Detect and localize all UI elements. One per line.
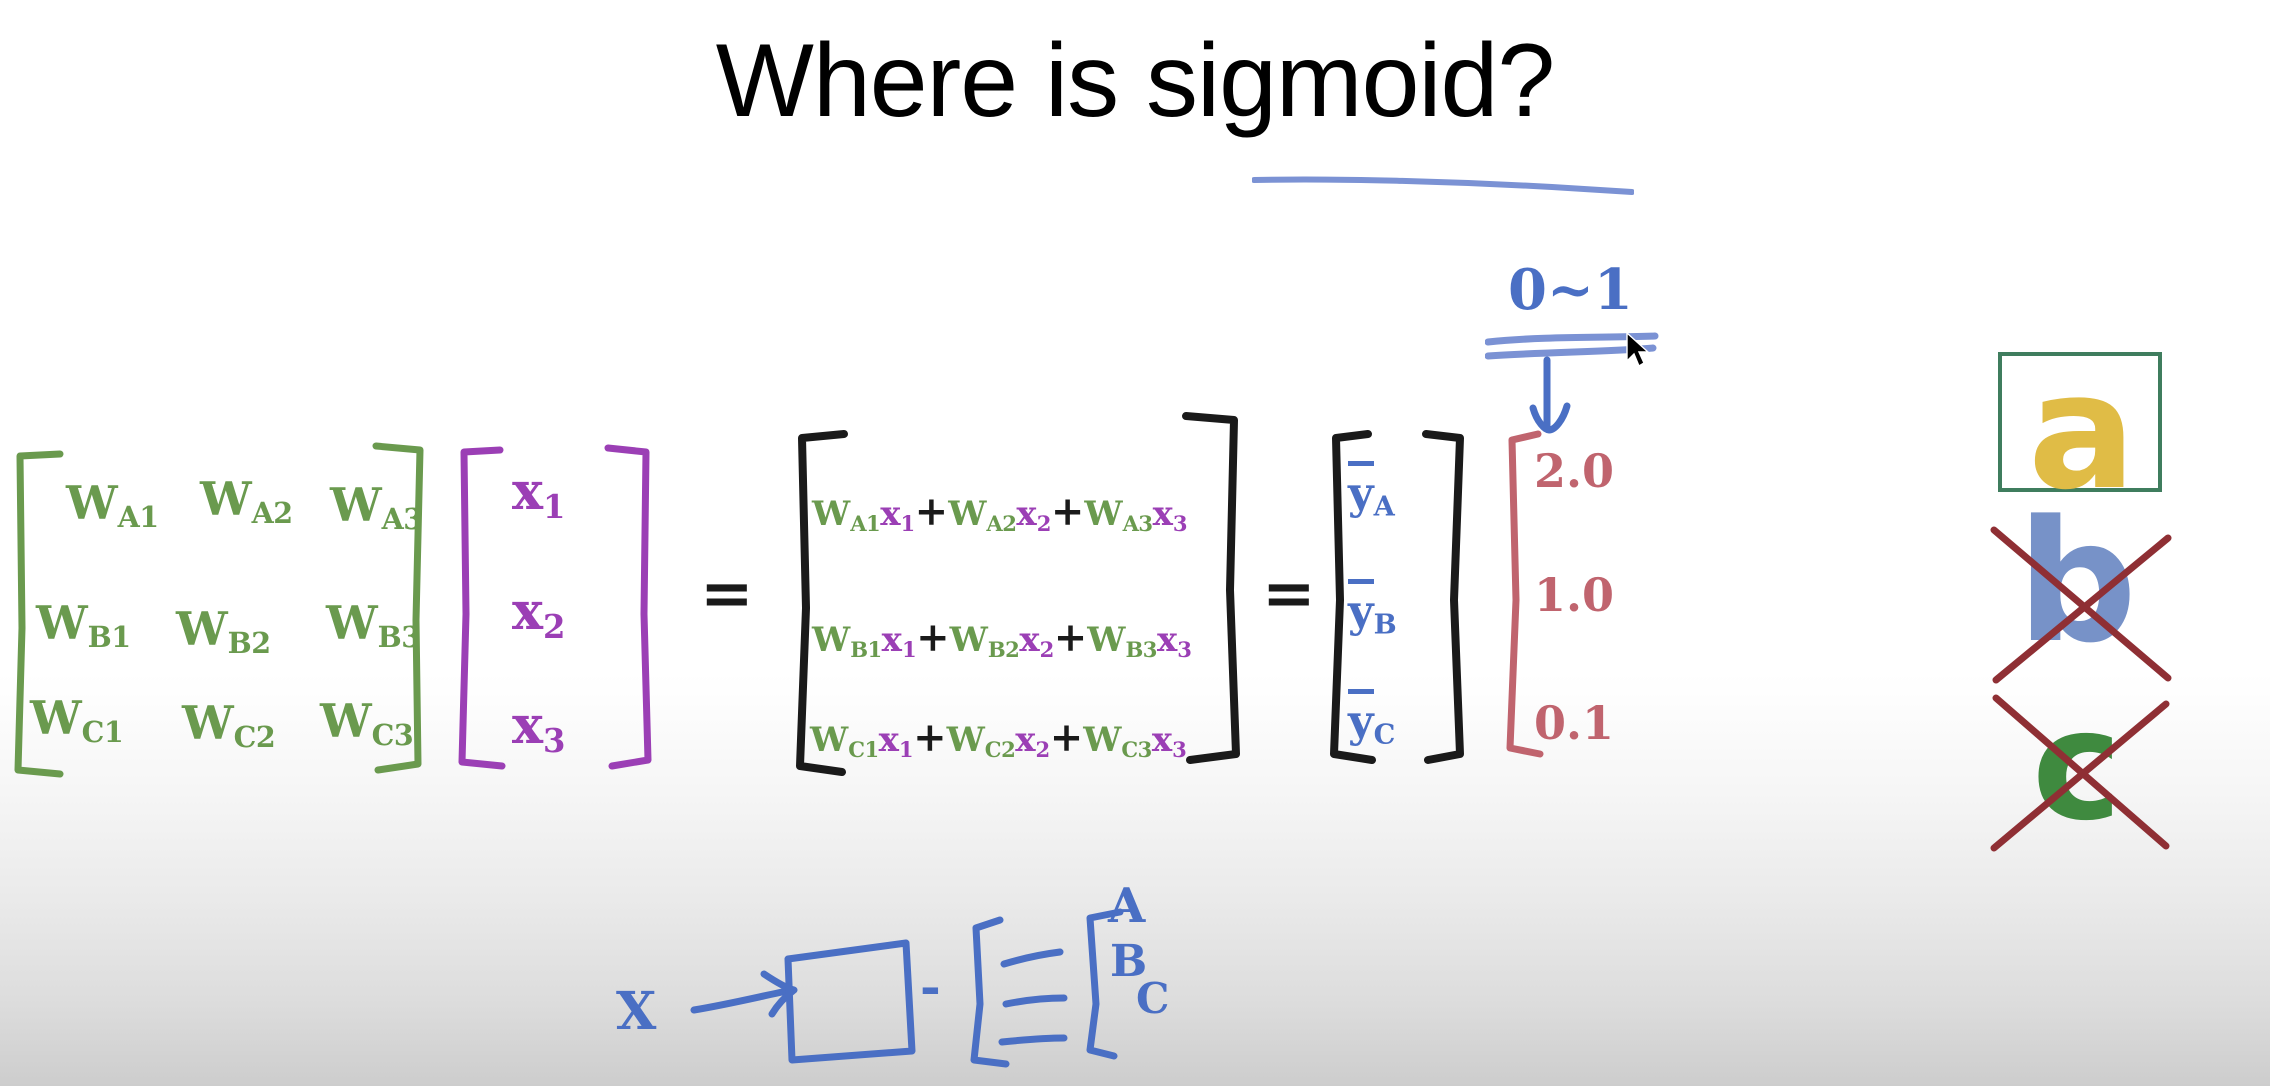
input-vector-cell: x1	[512, 466, 565, 523]
weight-cell: WA1	[66, 480, 159, 532]
equals-sign-1: =	[700, 556, 754, 631]
value-cell: 0.1	[1534, 700, 1614, 746]
input-vector-cell: x3	[512, 700, 565, 757]
weight-cell: WB3	[326, 600, 421, 652]
weight-cell: WC1	[30, 695, 123, 747]
weight-cell: WC2	[182, 700, 275, 752]
weight-cell: WC3	[320, 698, 413, 750]
page-title: Where is sigmoid?	[0, 22, 2270, 141]
sketch-output-bracket	[964, 908, 1164, 1083]
input-vector-left-bracket	[452, 444, 508, 779]
weight-cell: WB2	[176, 606, 271, 658]
class-c-cross-out-icon	[1988, 690, 2174, 861]
sketch-dash: -	[920, 962, 941, 1012]
sigmoid-range-label: 0~1	[1508, 262, 1633, 318]
product-row: WA1x1+WA2x2+WA3x3	[812, 492, 1187, 534]
weight-cell: WA2	[200, 476, 293, 528]
sketch-input-label: X	[616, 986, 656, 1038]
output-vector-right-bracket	[1420, 428, 1476, 773]
sketch-network-box	[782, 925, 922, 1075]
class-b-cross-out-icon	[1988, 520, 2174, 691]
value-cell: 2.0	[1534, 448, 1614, 494]
output-vector-cell: yB	[1348, 590, 1396, 639]
input-vector-right-bracket	[604, 444, 660, 779]
product-row: WB1x1+WB2x2+WB3x3	[812, 618, 1191, 660]
slide-canvas: Where is sigmoid? 0~1 WA1 WA2	[0, 0, 2270, 1086]
sketch-output-label-c: C	[1136, 978, 1169, 1020]
product-row: WC1x1+WC2x2+WC3x3	[810, 718, 1186, 760]
equals-sign-2: =	[1262, 556, 1316, 631]
mouse-cursor-icon	[1625, 332, 1651, 368]
title-underline-stroke	[1252, 176, 1634, 192]
output-vector-cell: yC	[1348, 700, 1395, 749]
output-vector-cell: yA	[1348, 472, 1394, 521]
sketch-output-label-a: A	[1108, 882, 1145, 930]
product-matrix-right-bracket	[1180, 410, 1250, 775]
weight-cell: WB1	[36, 600, 131, 652]
input-vector-cell: x2	[512, 586, 565, 643]
weight-cell: WA3	[330, 482, 423, 534]
value-cell: 1.0	[1534, 572, 1614, 618]
